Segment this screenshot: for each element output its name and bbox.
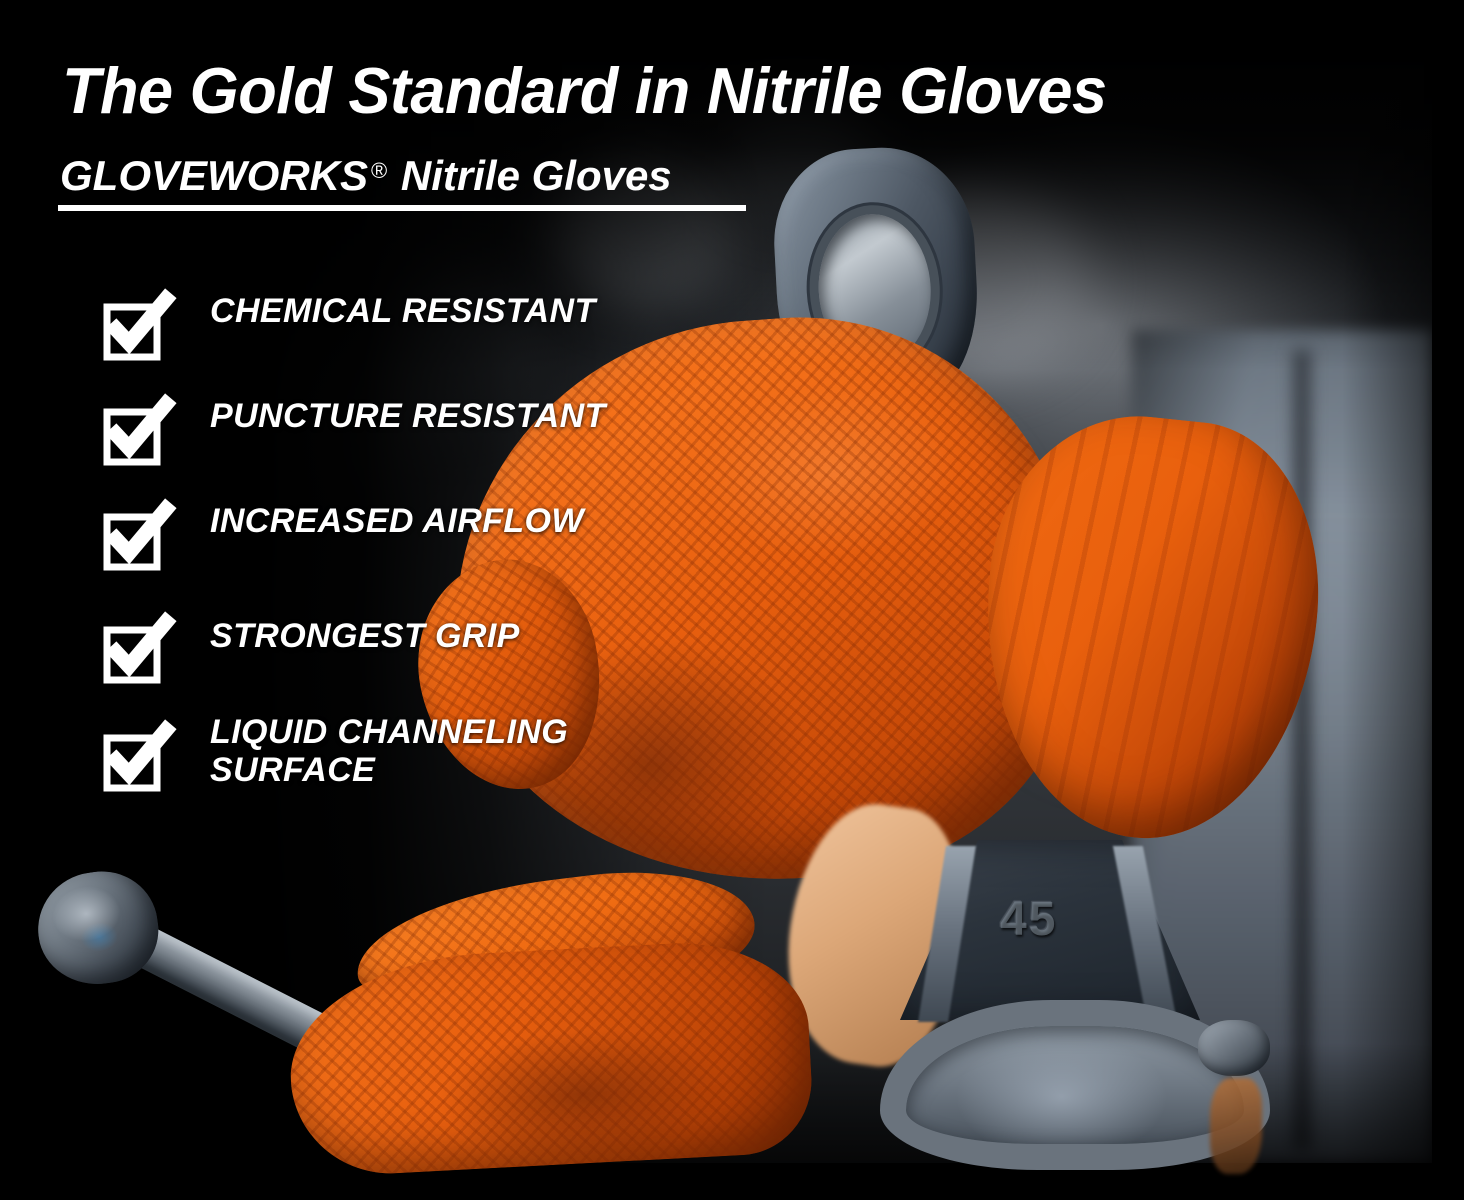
- list-item: STRONGEST GRIP: [104, 607, 724, 717]
- brand-suffix: Nitrile Gloves: [389, 152, 671, 199]
- list-item: INCREASED AIRFLOW: [104, 502, 724, 607]
- list-item-label: LIQUID CHANNELING SURFACE: [210, 713, 630, 789]
- poster-canvas: 45 The Gold Standard in Nitrile Gloves G…: [0, 0, 1464, 1200]
- heading-divider: [58, 205, 746, 211]
- checkbox-checked-icon: [104, 508, 166, 570]
- list-item-label: CHEMICAL RESISTANT: [210, 292, 720, 330]
- checkbox-checked-icon: [104, 298, 166, 360]
- checkbox-checked-icon: [104, 621, 166, 683]
- checkbox-checked-icon: [104, 729, 166, 791]
- list-item-label: STRONGEST GRIP: [210, 617, 720, 655]
- list-item: CHEMICAL RESISTANT: [104, 292, 724, 397]
- poster-text-layer: The Gold Standard in Nitrile Gloves GLOV…: [0, 0, 1464, 1200]
- registered-trademark-icon: ®: [371, 158, 387, 183]
- feature-list: CHEMICAL RESISTANT PUNCTURE RESISTANT: [104, 292, 724, 717]
- brand-name: GLOVEWORKS: [60, 152, 368, 199]
- headline: The Gold Standard in Nitrile Gloves: [62, 58, 1381, 123]
- checkbox-checked-icon: [104, 403, 166, 465]
- brand-subheading: GLOVEWORKS® Nitrile Gloves: [60, 152, 672, 200]
- list-item: PUNCTURE RESISTANT: [104, 397, 724, 502]
- list-item-label: INCREASED AIRFLOW: [210, 502, 720, 540]
- list-item-label: PUNCTURE RESISTANT: [210, 397, 720, 435]
